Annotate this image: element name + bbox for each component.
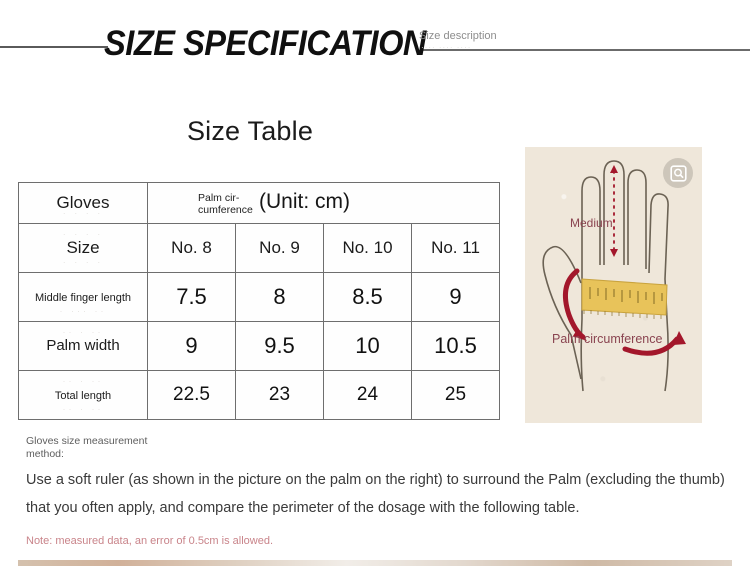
cell-size-no8: No. 8 — [148, 224, 236, 273]
cell-total-length-no11: 25 — [412, 371, 500, 420]
value-middle-finger-length-no8: 7.5 — [176, 284, 207, 309]
medium-arrow-up — [610, 165, 618, 173]
cell-label-total-length: Total length ·· · ·· ·· · ·· — [19, 371, 148, 420]
magnify-glyph — [670, 165, 687, 182]
index-finger-outline — [582, 177, 600, 283]
size-value-no11: No. 11 — [431, 238, 480, 257]
size-value-no10: No. 10 — [342, 238, 392, 257]
size-table-heading: Size Table — [0, 116, 500, 147]
unit-overlay-label: (Unit: cm) — [259, 190, 350, 214]
measurement-method-heading-line1: Gloves size measurement — [26, 435, 147, 447]
size-specification-page: SIZE SPECIFICATION Size description ····… — [0, 0, 750, 566]
cell-total-length-no8: 22.5 — [148, 371, 236, 420]
cell-total-length-no9: 23 — [236, 371, 324, 420]
table-row-size: Size · · · · · · · · No. 8 No. 9 No. 10 … — [19, 224, 500, 273]
row-label-ghost-total-length-top: ·· · ·· — [19, 376, 147, 386]
value-total-length-no8: 22.5 — [173, 384, 210, 405]
page-banner: SIZE SPECIFICATION Size description ····… — [0, 0, 750, 80]
cell-label-middle-finger-length: Middle finger length · ··· ·· — [19, 273, 148, 322]
hand-diagram: Medium Palm circumference — [525, 147, 702, 423]
value-palm-width-no9: 9.5 — [264, 333, 295, 358]
palm-circumference-label-text: Palm circumference — [552, 332, 662, 346]
cell-palm-width-no10: 10 — [324, 322, 412, 371]
medium-label-text: Medium — [570, 216, 613, 230]
cell-middle-finger-length-no10: 8.5 — [324, 273, 412, 322]
bottom-color-strip — [18, 560, 732, 566]
value-total-length-no11: 25 — [445, 384, 466, 405]
palm-measurement-illustration[interactable]: Medium Palm circumference — [525, 147, 702, 423]
value-middle-finger-length-no11: 9 — [449, 284, 461, 309]
row-label-ghost-middle-finger-length: · ··· ·· — [19, 306, 147, 316]
table-row-palm-width: Palm width ·· · ·· 9 9.5 10 10.5 — [19, 322, 500, 371]
row-label-ghost-palm-width: ·· · ·· — [19, 327, 147, 337]
table-row-total-length: Total length ·· · ·· ·· · ·· 22.5 23 24 … — [19, 371, 500, 420]
gloves-label: Gloves — [57, 193, 110, 212]
table-row-unit: Gloves · · · · Palm cir- cumference (Uni… — [19, 183, 500, 224]
cell-palm-circumference-header: Palm cir- cumference (Unit: cm) — [148, 183, 500, 224]
banner-rule-left — [0, 46, 108, 48]
measurement-method-heading: Gloves size measurement method: — [26, 435, 256, 461]
table-row-middle-finger-length: Middle finger length · ··· ·· 7.5 8 8.5 … — [19, 273, 500, 322]
banner-subtitle: Size description — [419, 30, 497, 42]
banner-subtitle-ghost: ···· ···· ···· — [421, 43, 471, 52]
thumb-outline — [543, 247, 581, 379]
medium-arrow-down — [610, 249, 618, 257]
palm-circumference-label-line2: cumference — [198, 204, 253, 216]
cell-palm-width-no9: 9.5 — [236, 322, 324, 371]
cell-total-length-no10: 24 — [324, 371, 412, 420]
row-label-middle-finger-length: Middle finger length — [35, 292, 131, 304]
magnify-icon[interactable] — [663, 158, 693, 188]
value-total-length-no9: 23 — [269, 384, 290, 405]
size-table: Gloves · · · · Palm cir- cumference (Uni… — [18, 182, 500, 420]
cell-middle-finger-length-no9: 8 — [236, 273, 324, 322]
cell-size-no9: No. 9 — [236, 224, 324, 273]
wrist-right — [665, 319, 668, 391]
size-value-no9: No. 9 — [259, 238, 300, 257]
cell-palm-width-no11: 10.5 — [412, 322, 500, 371]
value-palm-width-no8: 9 — [185, 333, 197, 358]
size-label: Size — [66, 238, 99, 257]
banner-rule-right — [423, 49, 750, 51]
value-middle-finger-length-no10: 8.5 — [352, 284, 383, 309]
measurement-method-heading-line2: method: — [26, 448, 64, 460]
value-middle-finger-length-no9: 8 — [273, 284, 285, 309]
cell-palm-width-no8: 9 — [148, 322, 236, 371]
page-title: SIZE SPECIFICATION — [104, 24, 426, 64]
cell-size-label: Size · · · · · · · · — [19, 224, 148, 273]
row-label-palm-width: Palm width — [46, 337, 119, 354]
size-label-ghost-bottom: · · · · — [19, 257, 147, 267]
row-label-ghost-total-length-bottom: ·· · ·· — [19, 404, 147, 414]
cell-middle-finger-length-no11: 9 — [412, 273, 500, 322]
size-value-no8: No. 8 — [171, 238, 212, 257]
cell-middle-finger-length-no8: 7.5 — [148, 273, 236, 322]
ring-finger-outline — [628, 170, 646, 269]
measurement-instructions: Use a soft ruler (as shown in the pictur… — [26, 466, 726, 523]
cell-label-palm-width: Palm width ·· · ·· — [19, 322, 148, 371]
ruler — [582, 279, 667, 319]
little-finger-outline — [649, 194, 668, 279]
value-palm-width-no11: 10.5 — [434, 333, 477, 358]
wrist-left — [581, 319, 583, 391]
value-total-length-no10: 24 — [357, 384, 378, 405]
palm-circumference-label-line1: Palm cir- — [198, 192, 239, 204]
measurement-note: Note: measured data, an error of 0.5cm i… — [26, 535, 273, 547]
cell-size-no11: No. 11 — [412, 224, 500, 273]
cell-size-no10: No. 10 — [324, 224, 412, 273]
row-label-total-length: Total length — [55, 390, 111, 402]
cell-gloves-label: Gloves · · · · — [19, 183, 148, 224]
value-palm-width-no10: 10 — [355, 333, 379, 358]
